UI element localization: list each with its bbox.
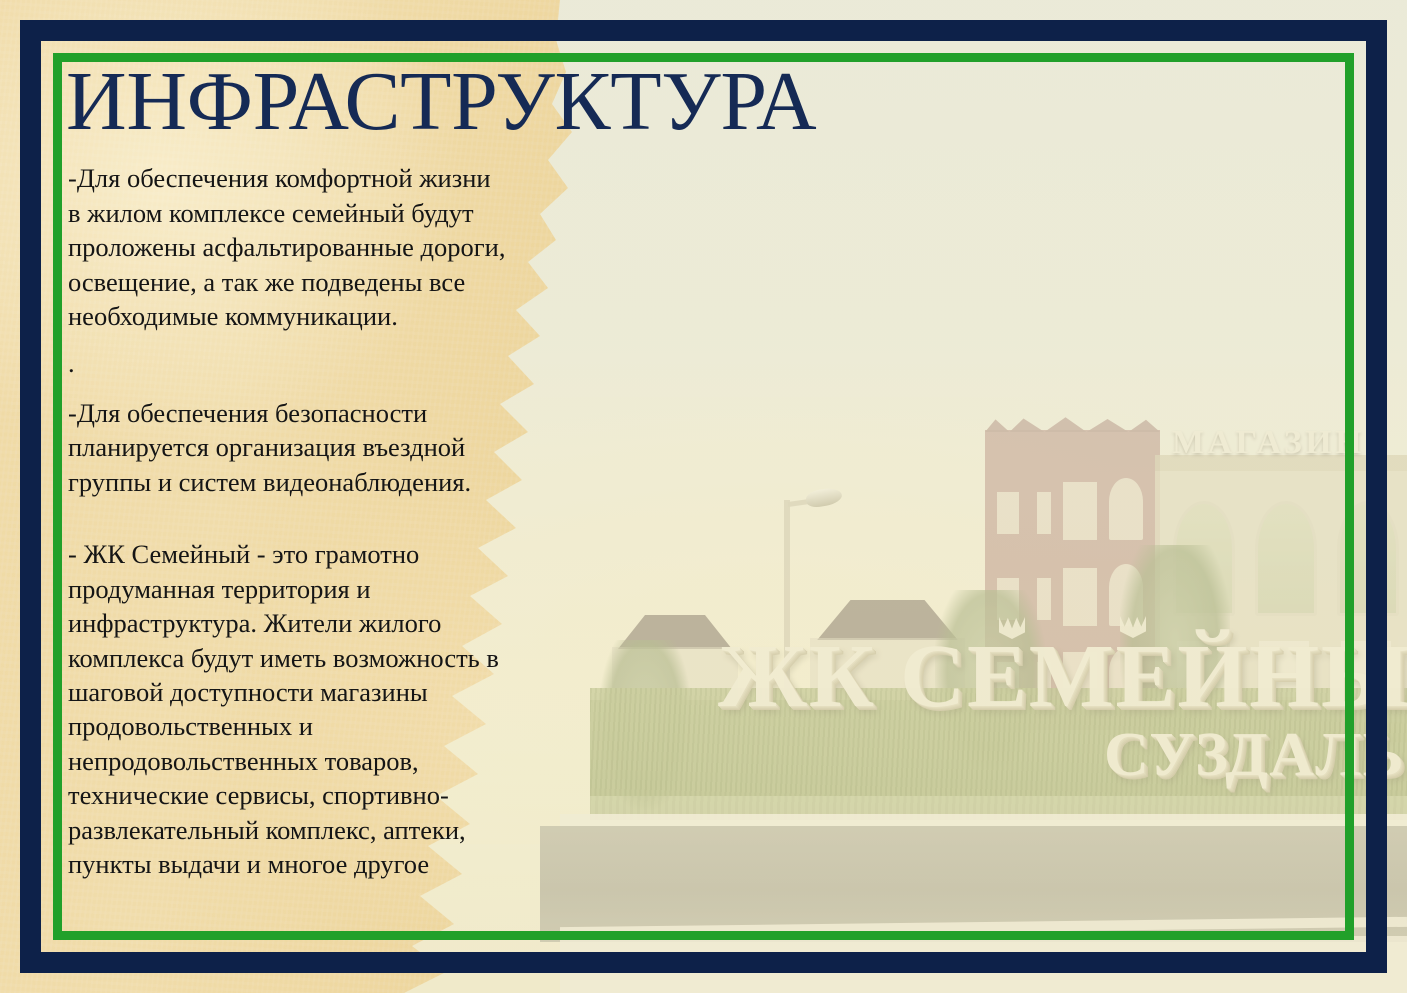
window (1063, 482, 1097, 540)
text-line: продуманная территория и (68, 572, 682, 606)
complex-name-sign: ЖК СЕМЕЙНЫЙ (718, 625, 1407, 728)
paragraph-separator: . (68, 346, 682, 380)
city-name-sign: СУЗДАЛЬ (1104, 720, 1405, 791)
arched-window (1109, 478, 1143, 540)
window (997, 492, 1019, 534)
arched-window (1255, 501, 1317, 616)
text-line: развлекательный комплекс, аптеки, (68, 813, 682, 847)
page-title: ИНФРАСТРУКТУРА (62, 58, 682, 145)
text-line: необходимые коммуникации. (68, 299, 682, 333)
text-line: технические сервисы, спортивно- (68, 778, 682, 812)
window (1037, 492, 1051, 534)
paragraph-amenities: - ЖК Семейный - это грамотно продуманная… (68, 537, 682, 881)
text-line: проложены асфальтированные дороги, (68, 230, 682, 264)
text-line: пункты выдачи и многое другое (68, 847, 682, 881)
text-content-area: ИНФРАСТРУКТУРА -Для обеспечения комфортн… (62, 58, 682, 882)
text-line: шаговой доступности магазины (68, 675, 682, 709)
text-line: в жилом комплексе семейный будут (68, 196, 682, 230)
paragraph-comfort: -Для обеспечения комфортной жизни в жило… (68, 161, 682, 333)
text-line: - ЖК Семейный - это грамотно (68, 537, 682, 571)
text-line: группы и систем видеонаблюдения. (68, 465, 682, 499)
text-line: освещение, а так же подведены все (68, 265, 682, 299)
store-building-sign: МАГАЗИН (1172, 424, 1365, 462)
text-line: -Для обеспечения безопасности (68, 396, 682, 430)
window (1063, 568, 1097, 626)
paragraph-security: -Для обеспечения безопасности планируетс… (68, 396, 682, 499)
text-line: комплекса будут иметь возможность в (68, 641, 682, 675)
body-copy: -Для обеспечения комфортной жизни в жило… (62, 161, 682, 881)
text-line: инфраструктура. Жители жилого (68, 606, 682, 640)
poster-canvas: МАГАЗИН ЖК СЕМЕЙНЫЙ СУЗДАЛЬ (0, 0, 1407, 993)
arched-window (1337, 501, 1399, 616)
text-line: планируется организация въездной (68, 430, 682, 464)
text-line: непродовольственных товаров, (68, 744, 682, 778)
text-line: . (68, 346, 682, 380)
text-line: продовольственных и (68, 709, 682, 743)
text-line: -Для обеспечения комфортной жизни (68, 161, 682, 195)
